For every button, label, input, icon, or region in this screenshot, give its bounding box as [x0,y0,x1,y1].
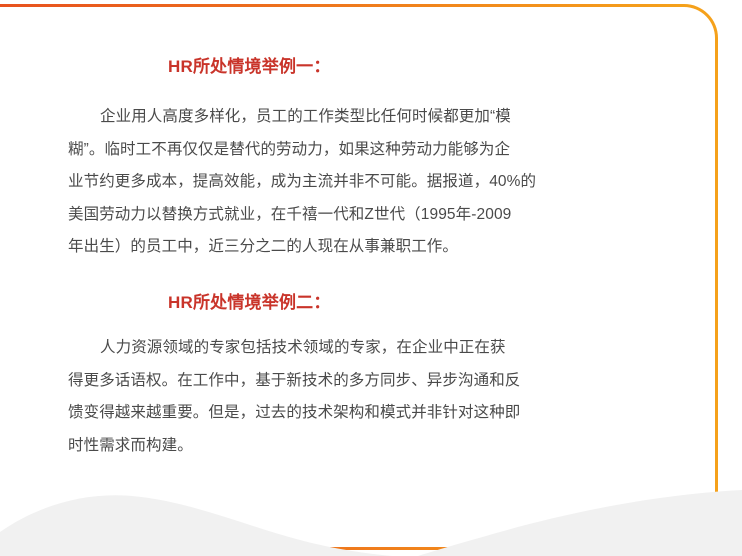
paragraph-line: 美国劳动力以替换方式就业，在千禧一代和Z世代（1995年-2009 [68,199,688,232]
document-page: HR所处情境举例一： 企业用人高度多样化，员工的工作类型比任何时候都更加“模 糊… [0,0,742,556]
paragraph-line: 企业用人高度多样化，员工的工作类型比任何时候都更加“模 [68,101,688,134]
section-paragraph-2: 人力资源领域的专家包括技术领域的专家，在企业中正在获 得更多话语权。在工作中，基… [68,332,688,462]
section-heading-1: HR所处情境举例一： [168,52,331,77]
paragraph-line: 糊”。临时工不再仅仅是替代的劳动力，如果这种劳动力能够为企 [68,134,688,167]
section-paragraph-1: 企业用人高度多样化，员工的工作类型比任何时候都更加“模 糊”。临时工不再仅仅是替… [68,101,688,264]
paragraph-line: 业节约更多成本，提高效能，成为主流并非不可能。据报道，40%的 [68,166,688,199]
section-heading-2: HR所处情境举例二： [168,288,331,313]
paragraph-line: 时性需求而构建。 [68,430,688,463]
paragraph-line: 得更多话语权。在工作中，基于新技术的多方同步、异步沟通和反 [68,365,688,398]
document-content: HR所处情境举例一： 企业用人高度多样化，员工的工作类型比任何时候都更加“模 糊… [0,0,742,556]
paragraph-line: 人力资源领域的专家包括技术领域的专家，在企业中正在获 [68,332,688,365]
paragraph-line: 年出生）的员工中，近三分之二的人现在从事兼职工作。 [68,231,688,264]
paragraph-line: 馈变得越来越重要。但是，过去的技术架构和模式并非针对这种即 [68,397,688,430]
